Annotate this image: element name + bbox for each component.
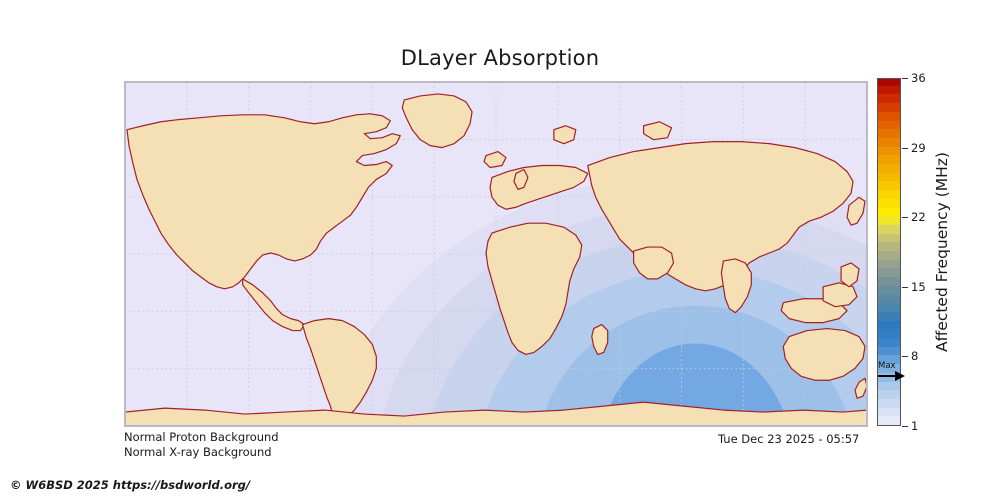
colorbar-segment [878, 190, 900, 199]
colorbar-segment [878, 311, 900, 320]
colorbar-segment [878, 364, 900, 373]
colorbar-segment [878, 85, 900, 94]
colorbar-tick [902, 287, 908, 288]
colorbar-segment [878, 146, 900, 155]
colorbar-tick [902, 356, 908, 357]
colorbar-segment [878, 103, 900, 112]
colorbar-segment [878, 259, 900, 268]
colorbar-gradient [877, 78, 901, 426]
colorbar-segment [878, 285, 900, 294]
colorbar-segment [878, 372, 900, 381]
colorbar-segment [878, 355, 900, 364]
colorbar-segment [878, 294, 900, 303]
colorbar-segment [878, 137, 900, 146]
colorbar-tick-label: 1 [911, 419, 918, 433]
colorbar-segment [878, 416, 900, 425]
colorbar-segment [878, 337, 900, 346]
xray-background-note: Normal X-ray Background [124, 445, 272, 459]
colorbar-segment [878, 111, 900, 120]
colorbar-segment [878, 120, 900, 129]
colorbar-tick-label: 8 [911, 349, 918, 363]
colorbar-segment [878, 129, 900, 138]
colorbar-segment [878, 320, 900, 329]
colorbar-segment [878, 242, 900, 251]
colorbar-segment [878, 381, 900, 390]
colorbar-segment [878, 207, 900, 216]
colorbar-tick [902, 426, 908, 427]
colorbar-tick-label: 15 [911, 280, 926, 294]
world-map-panel[interactable] [124, 81, 868, 427]
colorbar[interactable]: Max 1815222936 [877, 78, 901, 426]
colorbar-tick-label: 29 [911, 141, 926, 155]
colorbar-segment [878, 224, 900, 233]
colorbar-tick [902, 78, 908, 79]
colorbar-tick [902, 148, 908, 149]
colorbar-segment [878, 407, 900, 416]
colorbar-tick [902, 217, 908, 218]
colorbar-segment [878, 390, 900, 399]
colorbar-segment [878, 155, 900, 164]
colorbar-segment [878, 398, 900, 407]
colorbar-segment [878, 78, 900, 86]
copyright-label: © W6BSD 2025 https://bsdworld.org/ [10, 478, 250, 492]
colorbar-segment [878, 94, 900, 103]
colorbar-segment [878, 216, 900, 225]
colorbar-segment [878, 163, 900, 172]
colorbar-segment [878, 346, 900, 355]
colorbar-segment [878, 198, 900, 207]
colorbar-axis-label: Affected Frequency (MHz) [930, 78, 1000, 426]
proton-background-note: Normal Proton Background [124, 430, 279, 444]
colorbar-segment [878, 268, 900, 277]
colorbar-segment [878, 181, 900, 190]
colorbar-segment [878, 329, 900, 338]
page-title: DLayer Absorption [0, 46, 1000, 70]
colorbar-tick-label: 22 [911, 210, 926, 224]
colorbar-tick-label: 36 [911, 71, 926, 85]
colorbar-segment [878, 303, 900, 312]
world-map-svg [125, 82, 867, 426]
timestamp-label: Tue Dec 23 2025 - 05:57 [718, 432, 859, 446]
colorbar-segment [878, 233, 900, 242]
colorbar-segment [878, 172, 900, 181]
colorbar-segment [878, 250, 900, 259]
colorbar-segment [878, 277, 900, 286]
